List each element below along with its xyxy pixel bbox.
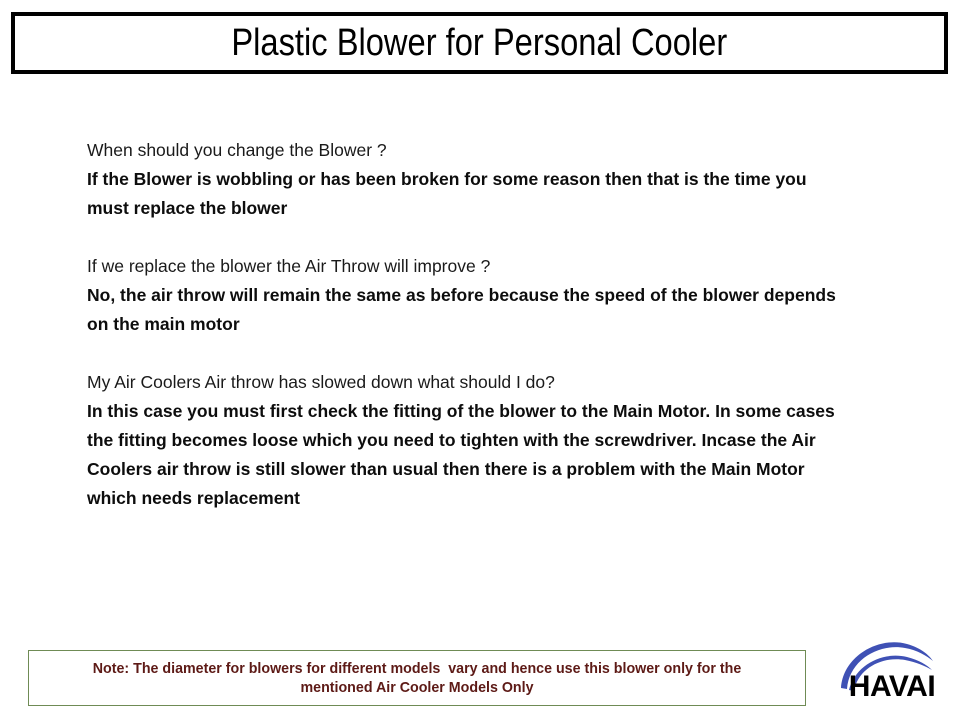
title-banner: Plastic Blower for Personal Cooler xyxy=(11,12,948,74)
note-text: Note: The diameter for blowers for diffe… xyxy=(56,659,778,697)
faq-item: My Air Coolers Air throw has slowed down… xyxy=(87,368,847,513)
faq-item: If we replace the blower the Air Throw w… xyxy=(87,252,847,339)
faq-question: My Air Coolers Air throw has slowed down… xyxy=(87,368,847,397)
page-title: Plastic Blower for Personal Cooler xyxy=(232,24,728,62)
havai-logo: HAVAI xyxy=(833,634,951,706)
faq-answer: No, the air throw will remain the same a… xyxy=(87,281,847,339)
logo-wordmark: HAVAI xyxy=(849,670,935,703)
note-box: Note: The diameter for blowers for diffe… xyxy=(28,650,806,706)
faq-answer: If the Blower is wobbling or has been br… xyxy=(87,165,847,223)
faq-answer: In this case you must first check the fi… xyxy=(87,397,847,513)
faq-list: When should you change the Blower ? If t… xyxy=(87,136,847,513)
faq-question: If we replace the blower the Air Throw w… xyxy=(87,252,847,281)
faq-item: When should you change the Blower ? If t… xyxy=(87,136,847,223)
faq-question: When should you change the Blower ? xyxy=(87,136,847,165)
